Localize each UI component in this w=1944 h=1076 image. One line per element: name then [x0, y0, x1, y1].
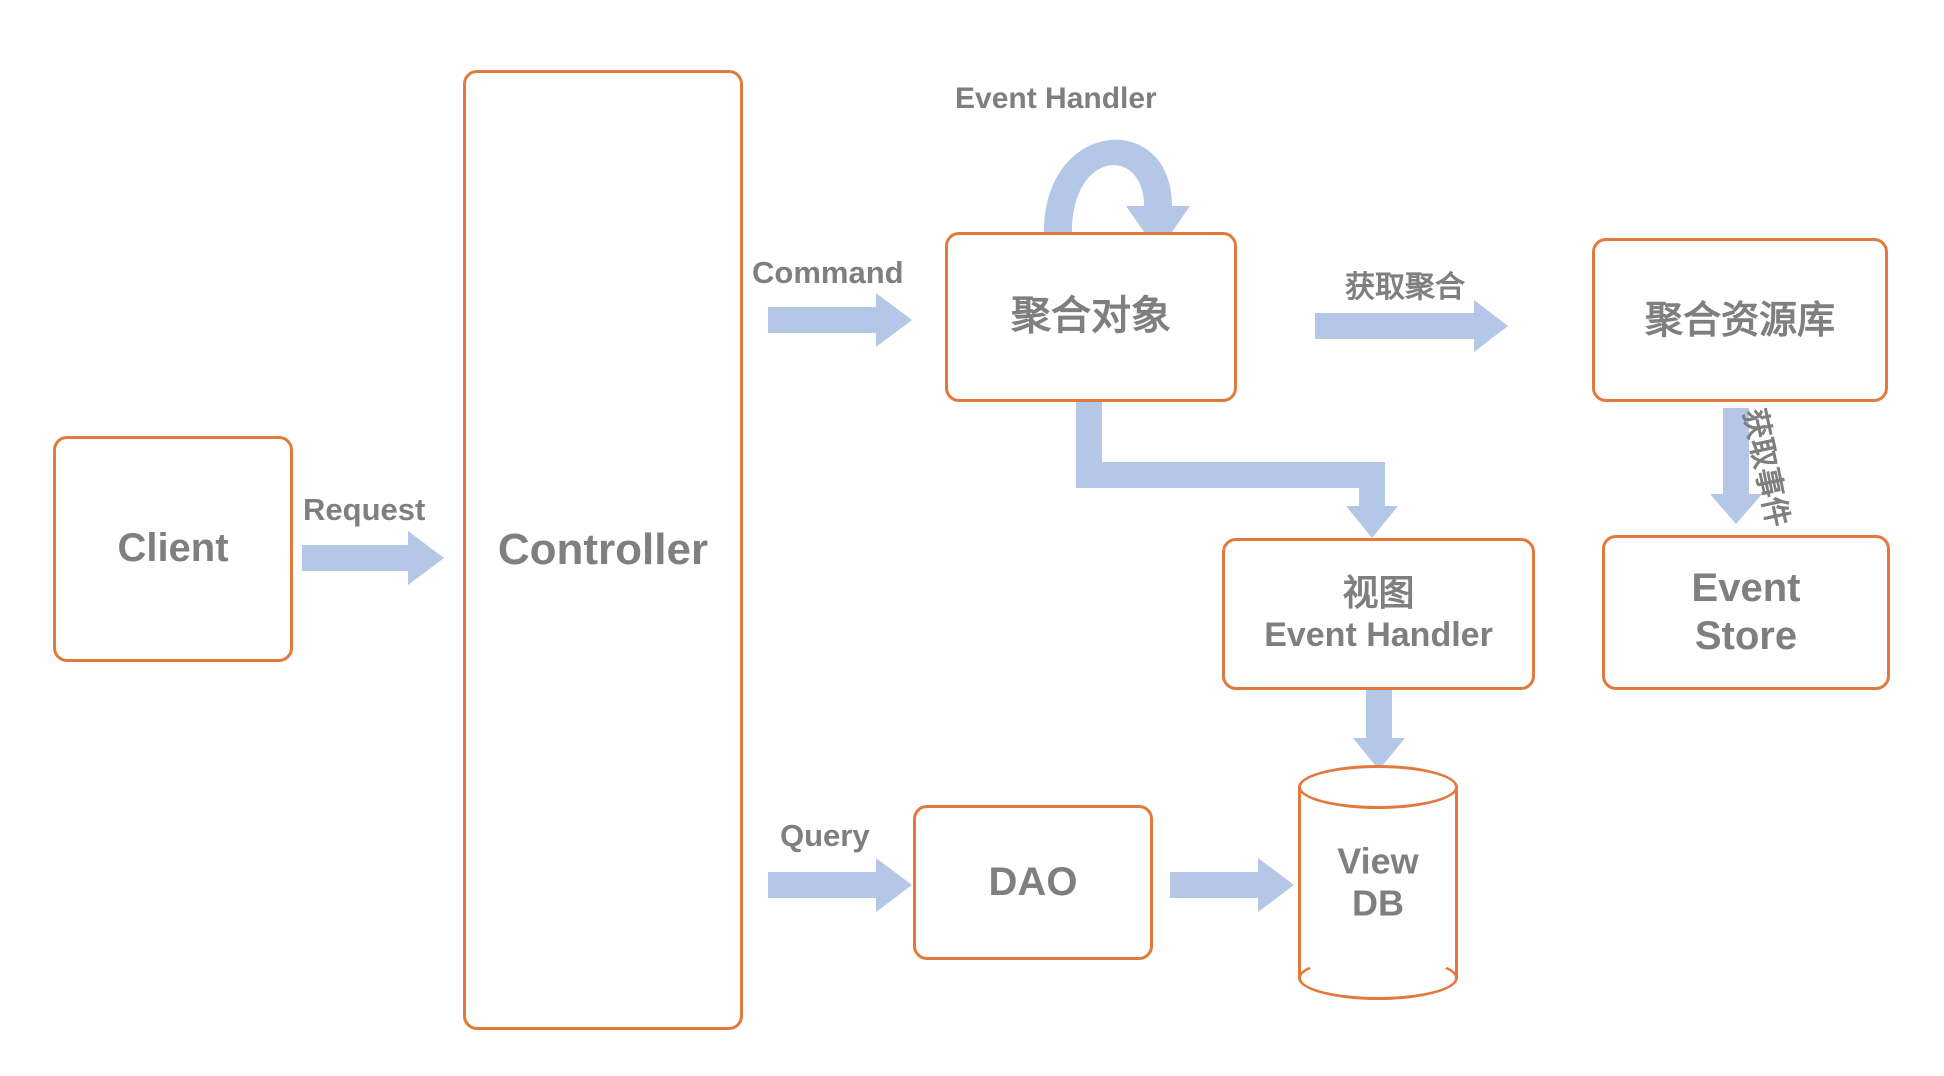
node-view-event-handler-label-cn: 视图: [1342, 573, 1414, 615]
node-controller[interactable]: Controller: [463, 70, 743, 1030]
arrow-dao-to-db: [1170, 858, 1294, 912]
arrow-aggregate-to-view: [1076, 402, 1398, 538]
node-aggregate-repo[interactable]: 聚合资源库: [1592, 238, 1888, 402]
edge-label-event-handler: Event Handler: [955, 82, 1157, 116]
edge-label-query: Query: [780, 818, 870, 854]
node-client[interactable]: Client: [53, 436, 293, 662]
node-event-store-label-line1: Event: [1692, 565, 1801, 612]
arrow-request: [302, 531, 444, 585]
node-client-label: Client: [117, 525, 228, 572]
node-aggregate-label: 聚合对象: [1011, 293, 1171, 340]
node-view-db-label-line2: DB: [1352, 883, 1404, 924]
node-dao-label: DAO: [989, 859, 1078, 906]
node-dao[interactable]: DAO: [913, 805, 1153, 960]
edge-label-fetch-aggregate: 获取聚合: [1345, 262, 1465, 306]
node-aggregate-repo-label: 聚合资源库: [1645, 298, 1835, 343]
edge-label-request: Request: [303, 492, 425, 528]
arrow-view-to-db: [1353, 690, 1405, 770]
cylinder-bottom-ellipse: [1298, 956, 1458, 1000]
node-view-event-handler-label-en: Event Handler: [1264, 615, 1493, 655]
node-aggregate[interactable]: 聚合对象: [945, 232, 1237, 402]
edge-label-fetch-events: 获取事件: [1735, 404, 1803, 531]
node-view-event-handler[interactable]: 视图 Event Handler: [1222, 538, 1535, 690]
node-event-store-label-line2: Store: [1695, 613, 1797, 660]
arrow-fetch-aggregate: [1315, 300, 1508, 352]
arrow-query: [768, 858, 912, 912]
diagram-canvas: Client Controller 聚合对象 聚合资源库 Event Store…: [0, 0, 1944, 1076]
node-controller-label: Controller: [498, 524, 708, 576]
node-view-db-text: View DB: [1298, 840, 1458, 925]
node-view-db[interactable]: View DB: [1298, 765, 1458, 1000]
arrow-command: [768, 293, 912, 347]
cylinder-top-ellipse: [1298, 765, 1458, 809]
node-event-store[interactable]: Event Store: [1602, 535, 1890, 690]
node-view-db-label-line1: View: [1337, 840, 1418, 881]
edge-label-command: Command: [752, 255, 904, 291]
